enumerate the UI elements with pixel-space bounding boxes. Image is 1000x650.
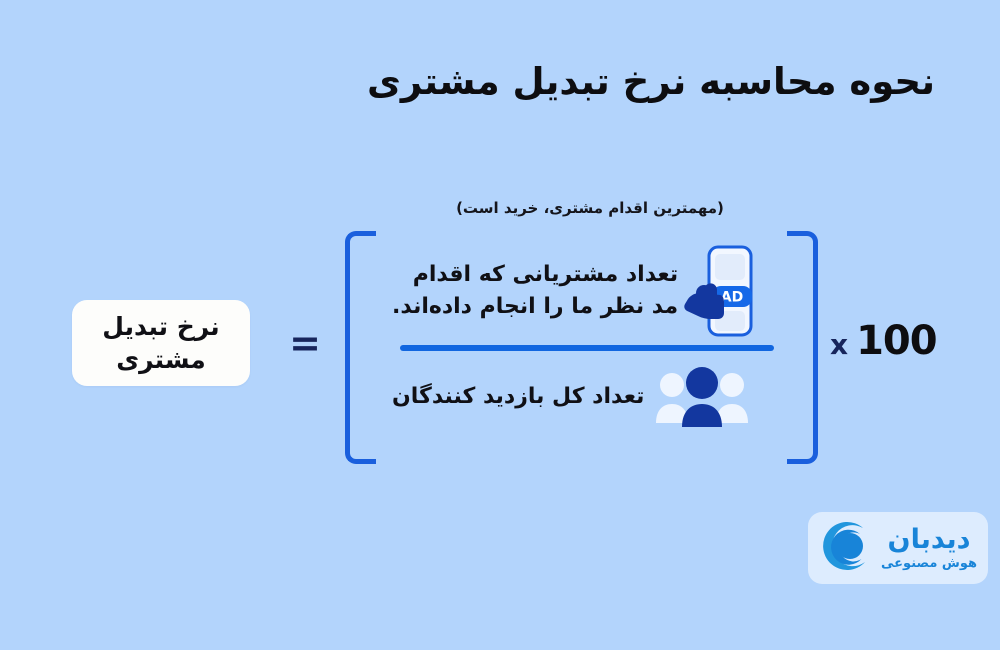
fraction-note: (مهمترین اقدام مشتری، خرید است) xyxy=(400,199,780,217)
brand-logo: دیدبان هوش مصنوعی xyxy=(808,512,988,584)
fraction-bar xyxy=(400,345,774,351)
fraction-numerator: تعداد مشتریانی که اقدام مد نظر ما را انج… xyxy=(392,240,782,342)
fraction-group: تعداد مشتریانی که اقدام مد نظر ما را انج… xyxy=(392,240,782,450)
bracket-left-icon xyxy=(345,231,376,464)
multiply-value: 100 xyxy=(856,318,937,364)
result-label-text: نرخ تبدیل مشتری xyxy=(94,310,227,376)
logo-name: دیدبان xyxy=(888,526,971,553)
svg-text:AD: AD xyxy=(721,290,743,306)
eye-circle-icon xyxy=(819,521,873,575)
multiply-operator: x xyxy=(830,328,848,361)
phone-ad-click-icon: AD xyxy=(684,243,758,339)
result-label-line-2: مشتری xyxy=(116,345,206,374)
visitors-group-icon xyxy=(654,365,750,427)
bracket-right-icon xyxy=(787,231,818,464)
denominator-text: تعداد کل بازدید کنندگان xyxy=(392,384,644,409)
result-label-line-1: نرخ تبدیل xyxy=(102,312,219,341)
infographic-canvas: نحوه محاسبه نرخ تبدیل مشتری نرخ تبدیل مش… xyxy=(0,0,1000,650)
result-label-box: نرخ تبدیل مشتری xyxy=(72,300,250,386)
logo-tagline: هوش مصنوعی xyxy=(881,557,977,570)
numerator-line-1: تعداد مشتریانی که اقدام xyxy=(413,262,678,287)
numerator-text: تعداد مشتریانی که اقدام مد نظر ما را انج… xyxy=(392,259,678,323)
logo-wordmark: دیدبان هوش مصنوعی xyxy=(881,526,977,570)
numerator-line-2: مد نظر ما را انجام داده‌اند. xyxy=(392,294,678,319)
equals-sign: = xyxy=(288,322,322,364)
multiplier-group: x 100 xyxy=(830,318,937,364)
page-title: نحوه محاسبه نرخ تبدیل مشتری xyxy=(55,59,935,105)
fraction-denominator: تعداد کل بازدید کنندگان xyxy=(392,352,782,432)
